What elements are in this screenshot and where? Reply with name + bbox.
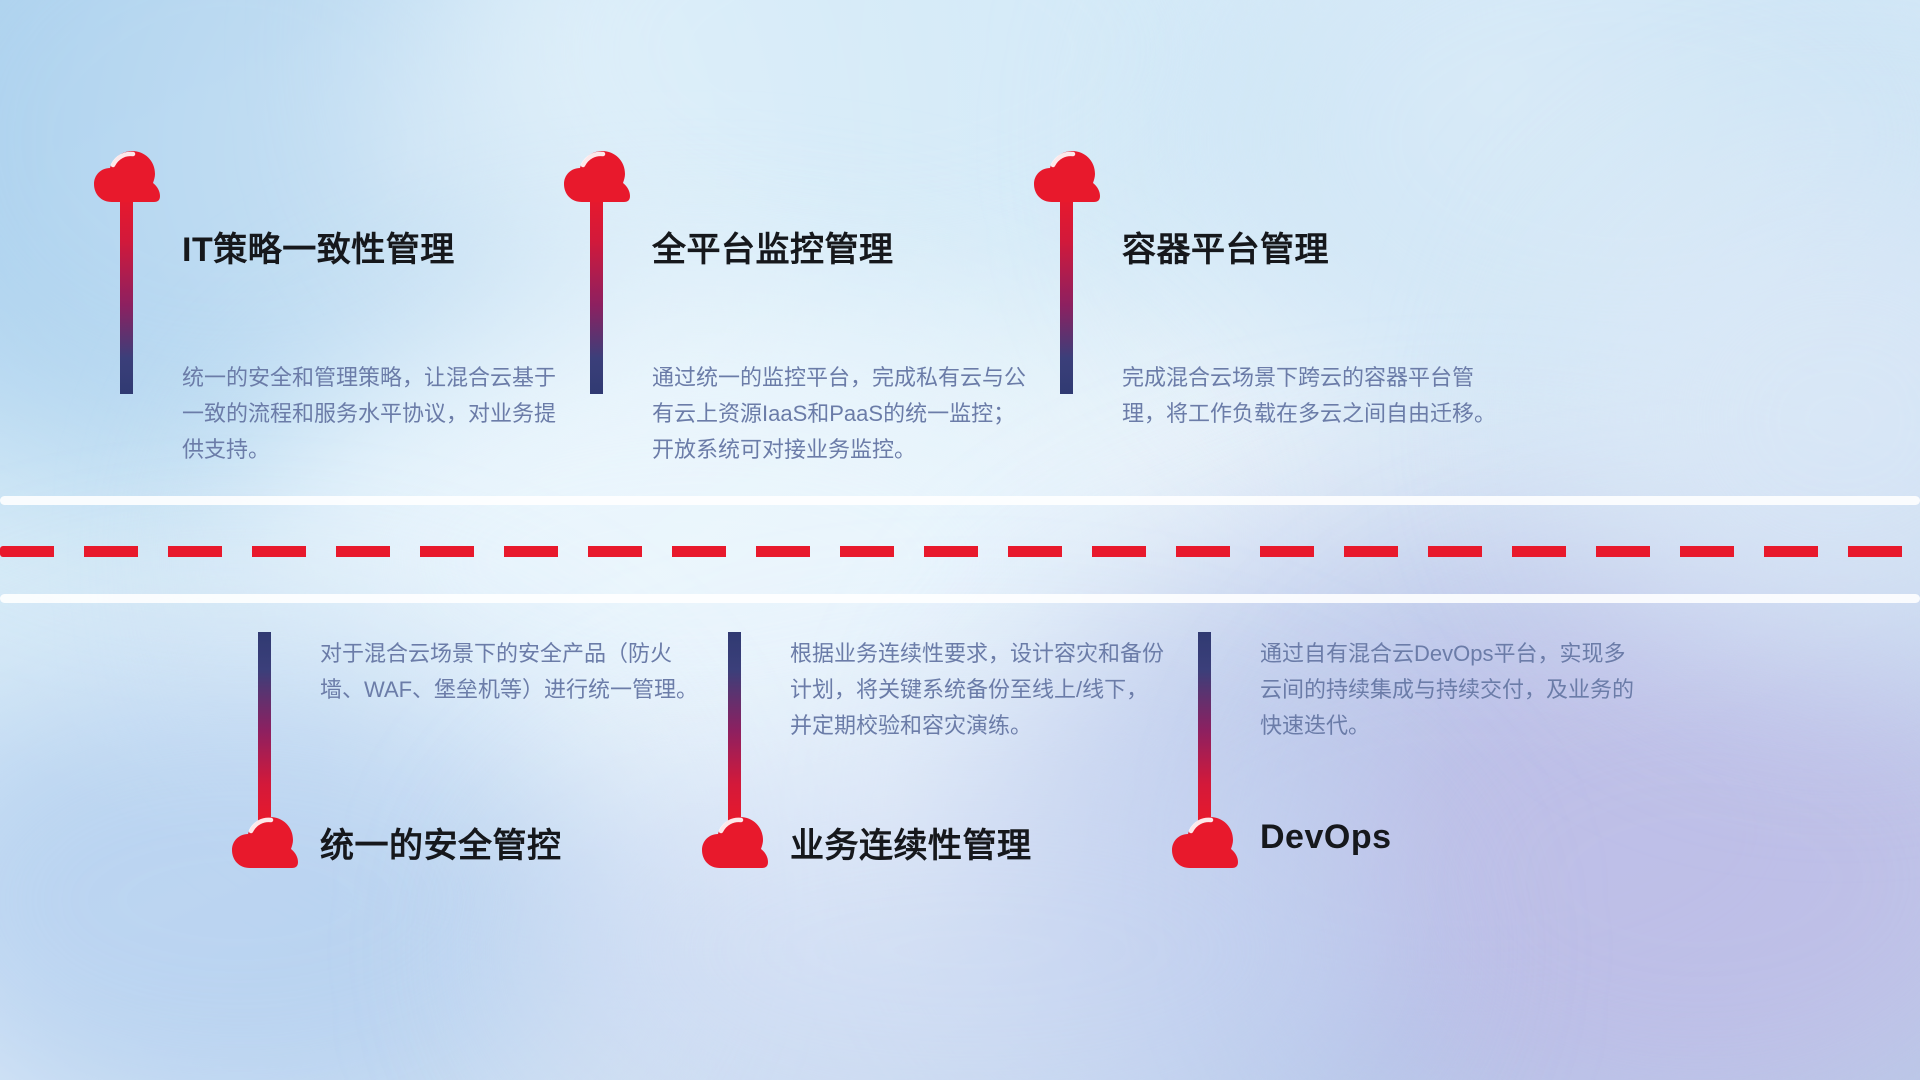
divider-dashed-line — [0, 546, 1920, 557]
pin-line — [590, 196, 603, 394]
background-blob — [980, 520, 1920, 1080]
card-title: 全平台监控管理 — [652, 222, 894, 271]
card-title: 容器平台管理 — [1122, 222, 1329, 271]
cloud-icon — [93, 150, 161, 204]
card-title: IT策略一致性管理 — [182, 222, 455, 271]
pin-line — [1060, 196, 1073, 394]
card-body: 统一的安全和管理策略，让混合云基于一致的流程和服务水平协议，对业务提供支持。 — [182, 360, 562, 468]
card-body: 通过自有混合云DevOps平台，实现多云间的持续集成与持续交付，及业务的快速迭代… — [1260, 636, 1640, 744]
card-body: 完成混合云场景下跨云的容器平台管理，将工作负载在多云之间自由迁移。 — [1122, 360, 1502, 432]
cloud-icon — [701, 816, 769, 870]
cloud-icon — [1033, 150, 1101, 204]
background-blob — [520, 720, 1420, 1080]
card-title: 统一的安全管控 — [320, 818, 562, 867]
pin-line — [258, 632, 271, 822]
cloud-icon — [563, 150, 631, 204]
card-title: DevOps — [1260, 818, 1392, 857]
background-sheen — [0, 0, 1920, 1080]
infographic-canvas: IT策略一致性管理 统一的安全和管理策略，让混合云基于一致的流程和服务水平协议，… — [0, 0, 1920, 1080]
pin-line — [728, 632, 741, 822]
card-body: 通过统一的监控平台，完成私有云与公有云上资源IaaS和PaaS的统一监控；开放系… — [652, 360, 1032, 468]
card-body: 根据业务连续性要求，设计容灾和备份计划，将关键系统备份至线上/线下，并定期校验和… — [790, 636, 1170, 744]
pin-line — [120, 196, 133, 394]
divider-rail-top — [0, 496, 1920, 505]
card-body: 对于混合云场景下的安全产品（防火墙、WAF、堡垒机等）进行统一管理。 — [320, 636, 700, 708]
divider-rail-bottom — [0, 594, 1920, 603]
cloud-icon — [1171, 816, 1239, 870]
card-title: 业务连续性管理 — [790, 818, 1032, 867]
pin-line — [1198, 632, 1211, 822]
cloud-icon — [231, 816, 299, 870]
